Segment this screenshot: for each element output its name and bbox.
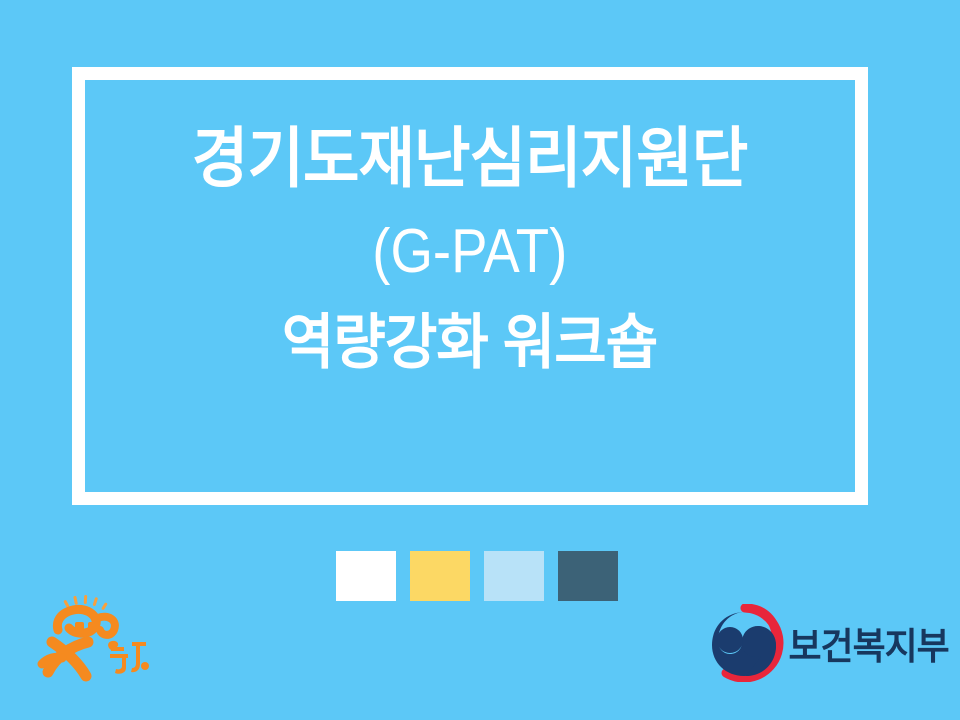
mohw-logo: 보건복지부: [706, 602, 896, 684]
taegeuk-emblem-icon: [706, 604, 784, 682]
gyeonggi-do-brush-figure-icon: [28, 592, 164, 684]
gyeonggi-do-logo: 경기: [28, 592, 164, 684]
title-line-organization: 경기도재난심리지원단: [192, 125, 747, 191]
slide-canvas: 경기도재난심리지원단 (G-PAT) 역량강화 워크숍: [0, 0, 960, 720]
title-block: 경기도재난심리지원단 (G-PAT) 역량강화 워크숍: [72, 67, 868, 505]
swatch-light-blue: [484, 551, 544, 601]
color-swatch-row: [336, 551, 618, 601]
title-line-event: 역량강화 워크숍: [282, 313, 657, 373]
title-line-acronym: (G-PAT): [373, 221, 568, 283]
mohw-wordmark-label: 보건복지부: [788, 616, 948, 670]
swatch-white: [336, 551, 396, 601]
swatch-yellow: [410, 551, 470, 601]
swatch-dark-slate: [558, 551, 618, 601]
